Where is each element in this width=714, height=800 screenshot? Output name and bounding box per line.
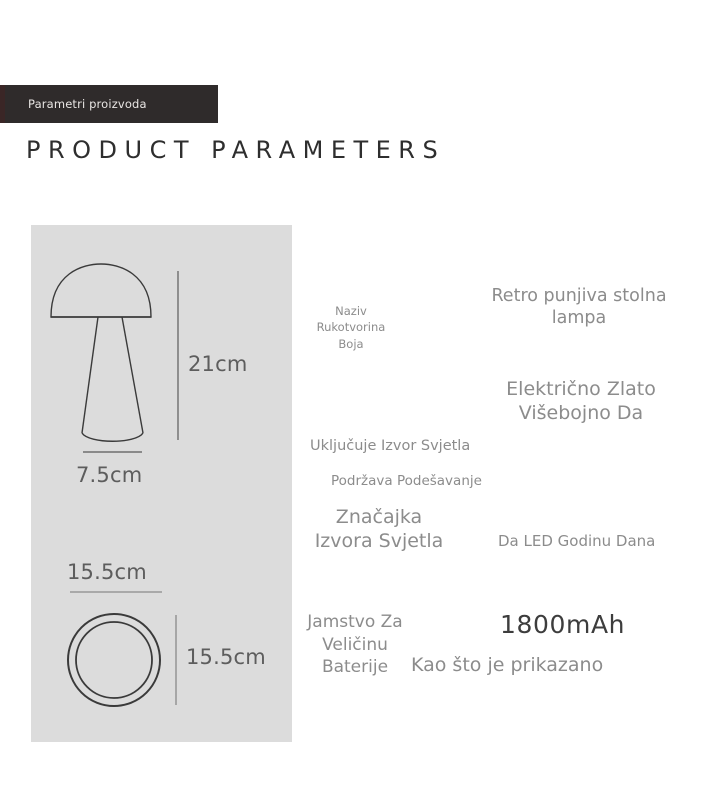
dimension-label-base-width-side: 15.5cm <box>186 645 266 669</box>
spec-value-product-name: Retro punjiva stolna lampa <box>477 285 681 330</box>
ribbon-label: Parametri proizvoda <box>28 97 147 111</box>
section-ribbon: Parametri proizvoda <box>0 85 218 123</box>
spec-attribute-includes-light-source: Uključuje Izvor Svjetla <box>310 437 470 456</box>
base-outer-circle-icon <box>68 614 160 706</box>
spec-attribute-light-source-feature: Značajka Izvora Svjetla <box>309 505 449 554</box>
lamp-base-left-wall <box>82 317 98 433</box>
dimension-label-top-width: 7.5cm <box>76 463 142 487</box>
spec-attribute-warranty-battery-size: Jamstvo Za Veličinu Baterije <box>294 611 416 679</box>
page-title: PRODUCT PARAMETERS <box>26 136 445 164</box>
dimension-label-height: 21cm <box>188 352 248 376</box>
lamp-dome-shade-icon <box>51 264 151 317</box>
spec-value-as-shown: Kao što je prikazano <box>411 653 603 677</box>
lamp-base-bottom-curve <box>82 433 143 441</box>
ribbon-left-edge-accent <box>0 85 5 123</box>
spec-value-battery-capacity: 1800mAh <box>500 609 625 641</box>
spec-attribute-name-craft-color: Naziv Rukotvorina Boja <box>311 303 391 352</box>
spec-attribute-supports-dimming: Podržava Podešavanje <box>331 473 482 490</box>
dimension-label-base-width-top: 15.5cm <box>67 560 147 584</box>
spec-value-color: Električno Zlato Višebojno Da <box>488 377 674 426</box>
product-parameters-page: Parametri proizvoda PRODUCT PARAMETERS <box>0 0 714 800</box>
lamp-base-right-wall <box>122 317 143 433</box>
base-inner-circle-icon <box>76 622 152 698</box>
spec-value-led-warranty: Da LED Godinu Dana <box>498 532 655 551</box>
